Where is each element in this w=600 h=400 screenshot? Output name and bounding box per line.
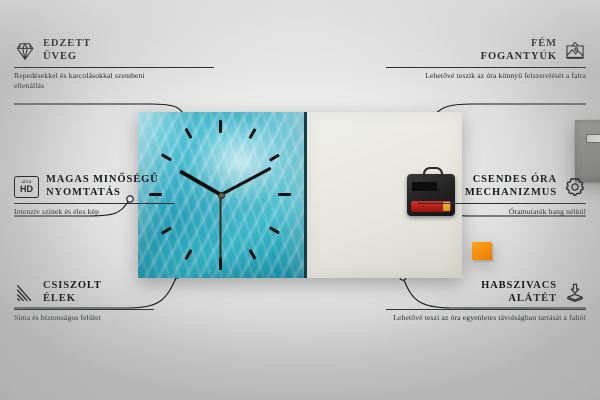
callout-description: Repedésekkel és karcolásokkal szembeni e… — [14, 71, 164, 93]
gear-icon — [564, 176, 586, 198]
callout-header: ultra HD MAGAS MINŐSÉGŰNYOMTATÁS — [14, 174, 214, 200]
hanger-slot — [586, 134, 600, 143]
picture-frame-hanger-icon — [564, 40, 586, 62]
callout-divider — [14, 309, 154, 310]
callout-csendes-ora-mechanizmus: CSENDES ÓRAMECHANIZMUS Óramutatók hang n… — [386, 174, 586, 217]
infographic-canvas: EDZETTÜVEG Repedésekkel és karcolásokkal… — [0, 0, 600, 400]
callout-description: Sima és biztonságos felület — [14, 313, 164, 324]
callout-title: CSENDES ÓRAMECHANIZMUS — [465, 174, 557, 200]
callout-description: Intenzív színek és éles kép — [14, 207, 174, 218]
callout-description: Óramutatók hang nélkül — [418, 207, 586, 218]
callout-csiszolt-elek: CSISZOLTÉLEK Sima és biztonságos felület — [14, 280, 214, 323]
callout-header: FÉMFOGANTYÚK — [386, 38, 586, 64]
callout-title: MAGAS MINŐSÉGŰNYOMTATÁS — [46, 174, 159, 200]
foam-pad-icon — [564, 282, 586, 304]
callout-divider — [418, 203, 586, 204]
polished-edges-icon — [14, 282, 36, 304]
callout-description: Lehetővé teszik az óra könnyű felszerelé… — [386, 71, 586, 82]
callout-description: Lehetővé teszi az óra egyenletes távolsá… — [386, 313, 586, 324]
ultra-hd-badge-icon: ultra HD — [14, 176, 39, 198]
clock-tick-12 — [219, 120, 222, 133]
metal-hanger-plate — [575, 120, 600, 182]
callout-habszivacs-alatet: HABSZIVACSALÁTÉT Lehetővé teszi az óra e… — [386, 280, 586, 323]
callout-header: EDZETTÜVEG — [14, 38, 214, 64]
clock-center-pivot — [218, 192, 225, 199]
clock-second-hand — [220, 195, 222, 259]
callout-header: CSENDES ÓRAMECHANIZMUS — [386, 174, 586, 200]
ultra-hd-badge-main: HD — [20, 185, 33, 194]
callout-title: EDZETTÜVEG — [43, 38, 91, 64]
callout-title: HABSZIVACSALÁTÉT — [481, 280, 557, 306]
callout-fem-fogantyuk: FÉMFOGANTYÚK Lehetővé teszik az óra könn… — [386, 38, 586, 81]
callout-divider — [386, 309, 586, 310]
callout-header: CSISZOLTÉLEK — [14, 280, 214, 306]
callout-title: CSISZOLTÉLEK — [43, 280, 102, 306]
foam-spacer-pad — [472, 242, 492, 260]
callout-divider — [386, 67, 586, 68]
callout-divider — [14, 67, 214, 68]
callout-divider — [14, 203, 174, 204]
clock-tick-3 — [278, 193, 291, 196]
callout-magas-minosegu-nyomtatas: ultra HD MAGAS MINŐSÉGŰNYOMTATÁS Intenzí… — [14, 174, 214, 217]
diamond-icon — [14, 40, 36, 62]
callout-title: FÉMFOGANTYÚK — [481, 38, 557, 64]
callout-header: HABSZIVACSALÁTÉT — [386, 280, 586, 306]
callout-edzett-uveg: EDZETTÜVEG Repedésekkel és karcolásokkal… — [14, 38, 214, 92]
